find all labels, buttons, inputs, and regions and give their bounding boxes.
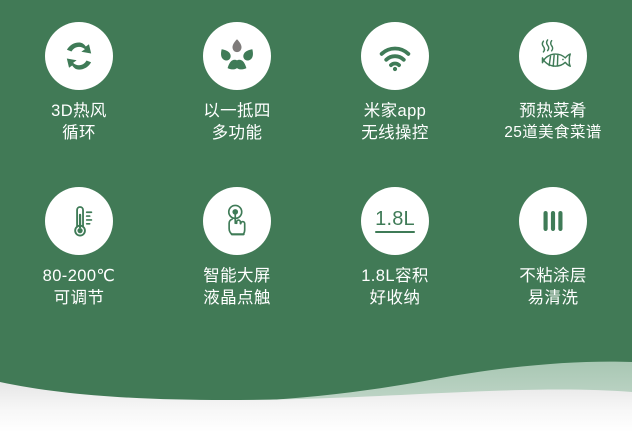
capacity-icon: 1.8L: [361, 187, 429, 255]
capacity-badge-content: 1.8L: [375, 209, 415, 233]
feature-caption: 预热菜肴 25道美食菜谱: [504, 101, 602, 143]
capacity-underline: [375, 231, 415, 233]
multi-food-icon: [203, 22, 271, 90]
feature-line-2: 可调节: [43, 288, 116, 310]
feature-caption: 以一抵四 多功能: [203, 101, 271, 145]
feature-cell-temperature: 80-200℃ 可调节: [0, 165, 158, 330]
feature-cell-capacity: 1.8L 1.8L容积 好收纳: [316, 165, 474, 330]
feature-line-1: 3D热风: [51, 102, 107, 120]
nonstick-coating-icon: [519, 187, 587, 255]
feature-line-1: 80-200℃: [43, 267, 116, 285]
feature-line-1: 米家app: [364, 102, 427, 120]
feature-grid: 3D热风 循环: [0, 0, 632, 330]
feature-caption: 1.8L容积 好收纳: [361, 266, 429, 310]
feature-line-2: 多功能: [203, 123, 271, 145]
feature-cell-nonstick: 不粘涂层 易清洗: [474, 165, 632, 330]
thermometer-icon: [45, 187, 113, 255]
feature-line-1: 智能大屏: [203, 267, 271, 285]
feature-cell-recipes: 预热菜肴 25道美食菜谱: [474, 0, 632, 165]
feature-line-2: 易清洗: [519, 288, 587, 310]
feature-line-1: 预热菜肴: [519, 102, 587, 120]
feature-line-1: 不粘涂层: [519, 267, 587, 285]
product-feature-panel: 3D热风 循环: [0, 0, 632, 432]
feature-caption: 不粘涂层 易清洗: [519, 266, 587, 310]
bottom-wave-divider: [0, 322, 632, 432]
feature-cell-air-circulation: 3D热风 循环: [0, 0, 158, 165]
wifi-icon: [361, 22, 429, 90]
feature-caption: 80-200℃ 可调节: [43, 266, 116, 310]
capacity-badge-text: 1.8L: [375, 209, 415, 229]
feature-line-2: 循环: [51, 123, 107, 145]
feature-cell-multifunction: 以一抵四 多功能: [158, 0, 316, 165]
feature-line-1: 以一抵四: [203, 102, 271, 120]
feature-caption: 3D热风 循环: [51, 101, 107, 145]
feature-line-1: 1.8L容积: [361, 267, 429, 285]
grilled-fish-icon: [519, 22, 587, 90]
air-circulation-icon: [45, 22, 113, 90]
feature-cell-app-control: 米家app 无线操控: [316, 0, 474, 165]
feature-line-2: 液晶点触: [203, 288, 271, 310]
feature-cell-touch-screen: 智能大屏 液晶点触: [158, 165, 316, 330]
feature-caption: 米家app 无线操控: [361, 101, 429, 145]
touch-screen-icon: [203, 187, 271, 255]
feature-line-2: 好收纳: [361, 288, 429, 310]
feature-line-2: 无线操控: [361, 123, 429, 145]
feature-line-2: 25道美食菜谱: [504, 123, 602, 143]
feature-caption: 智能大屏 液晶点触: [203, 266, 271, 310]
